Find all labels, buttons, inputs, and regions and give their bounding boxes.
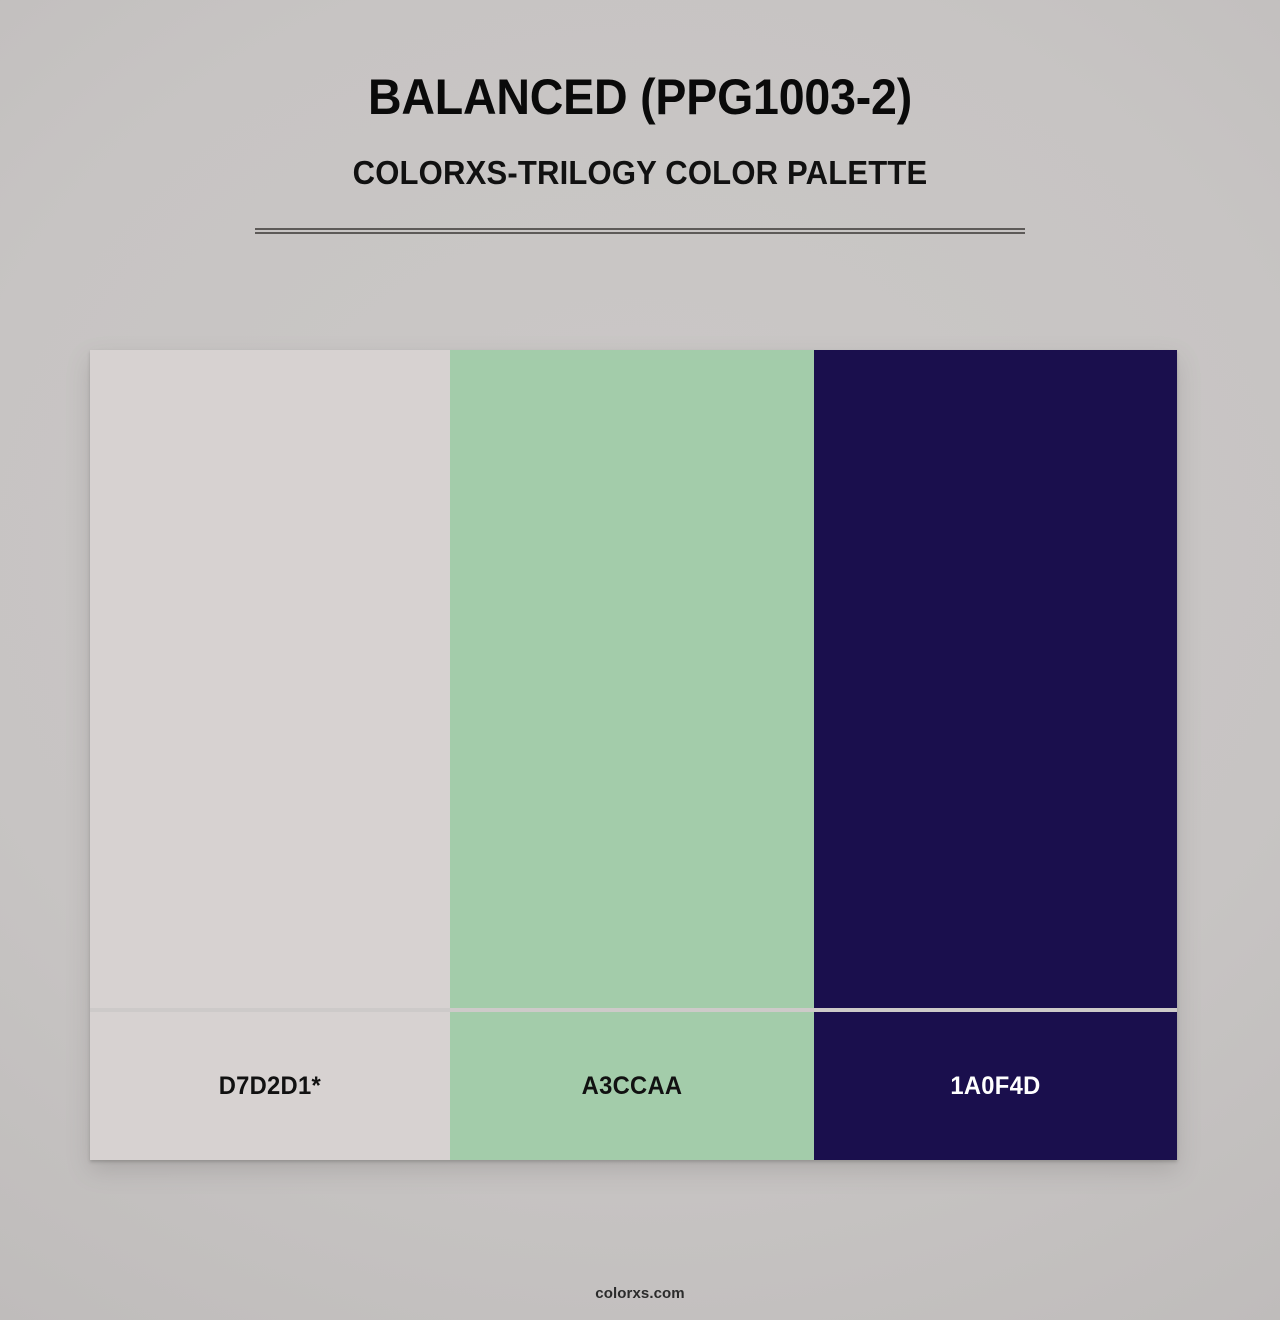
hex-label-3: 1A0F4D [950,1072,1040,1101]
swatch-block-3[interactable] [814,350,1177,1008]
hex-label-2: A3CCAA [582,1072,683,1101]
label-block-3[interactable]: 1A0F4D [814,1012,1177,1160]
divider-line-bottom [255,232,1025,234]
swatch-block-1[interactable] [90,350,450,1008]
header-divider [255,228,1025,234]
page-subtitle: COLORXS-TRILOGY COLOR PALETTE [38,122,1241,189]
swatch-block-2[interactable] [450,350,814,1008]
palette-page: BALANCED (PPG1003-2) COLORXS-TRILOGY COL… [0,0,1280,1320]
page-header: BALANCED (PPG1003-2) COLORXS-TRILOGY COL… [0,0,1280,189]
page-title: BALANCED (PPG1003-2) [45,0,1235,122]
footer-site-label: colorxs.com [0,1285,1280,1302]
label-block-1[interactable]: D7D2D1* [90,1012,450,1160]
swatch-row [90,350,1177,1008]
label-row: D7D2D1* A3CCAA 1A0F4D [90,1012,1177,1160]
label-block-2[interactable]: A3CCAA [450,1012,814,1160]
palette-card: D7D2D1* A3CCAA 1A0F4D [90,350,1177,1160]
hex-label-1: D7D2D1* [219,1072,321,1101]
